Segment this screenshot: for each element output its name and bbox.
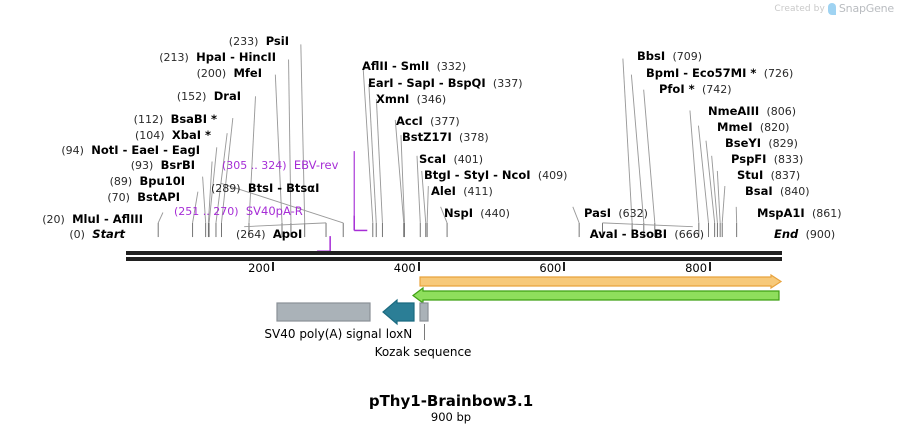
enzyme-name: SmlI [401, 59, 430, 73]
label-gap [287, 158, 294, 172]
enzyme-position: (94) [61, 144, 84, 157]
label-gap [773, 184, 780, 198]
enzyme-name: BsrBI [161, 158, 195, 172]
enzyme-name: MfeI [233, 66, 262, 80]
ruler-label-600: 600 [539, 261, 563, 275]
label-gap [65, 212, 72, 226]
ruler [0, 236, 902, 274]
label-gap [239, 204, 246, 218]
enzyme-position: (89) [110, 175, 133, 188]
enzyme-position: (742) [702, 83, 732, 96]
enzyme-label-pasi[interactable]: PasI (632) [584, 207, 648, 220]
primer-label-ebv-rev[interactable]: (305 .. 324) EBV-rev [222, 159, 338, 172]
enzyme-label-psii[interactable]: (233) PsiI [229, 35, 289, 48]
label-gap [766, 152, 773, 166]
enzyme-label-bseyi[interactable]: BseYI (829) [725, 137, 798, 150]
enzyme-position: (409) [538, 169, 568, 182]
label-gap [153, 158, 160, 172]
label-gap [805, 206, 812, 220]
label-gap [756, 66, 763, 80]
ruler-tick-400 [418, 262, 420, 271]
enzyme-label-xbai[interactable]: (104) XbaI * [135, 129, 211, 142]
enzyme-position: (726) [764, 67, 794, 80]
enzyme-label-xmni[interactable]: XmnI (346) [376, 93, 446, 106]
enzyme-separator: - [394, 76, 407, 90]
enzyme-name: AleI [431, 184, 456, 198]
feature-kozak-sequence[interactable] [420, 303, 428, 321]
enzyme-name: SapI [406, 76, 435, 90]
primer-label-sv40pa-r[interactable]: (251 .. 270) SV40pA-R [174, 205, 303, 218]
label-gap [241, 181, 248, 195]
enzyme-label-mlui[interactable]: (20) MluI - AflIII [42, 213, 143, 226]
enzyme-name: BspQI [448, 76, 486, 90]
feature-orange-feature[interactable] [420, 275, 781, 288]
enzyme-position: (233) [229, 35, 259, 48]
enzyme-label-drai[interactable]: (152) DraI [177, 90, 241, 103]
enzyme-label-mfei[interactable]: (200) MfeI [197, 67, 262, 80]
enzyme-label-eari[interactable]: EarI - SapI - BspQI (337) [368, 77, 523, 90]
enzyme-name: BseYI [725, 136, 761, 150]
enzyme-position: (401) [453, 153, 483, 166]
label-gap [763, 168, 770, 182]
enzyme-name: BsaBI * [171, 112, 217, 126]
label-gap [531, 168, 538, 182]
enzyme-separator: - [435, 76, 448, 90]
page-title: pThy1-Brainbow3.1 [0, 392, 902, 410]
enzyme-label-bbsi[interactable]: BbsI (709) [637, 50, 702, 63]
enzyme-name: AflII [362, 59, 388, 73]
enzyme-name: BstAPI [137, 190, 180, 204]
enzyme-name: NmeAIII [708, 104, 759, 118]
enzyme-name: BsaI [745, 184, 773, 198]
enzyme-name: PasI [584, 206, 611, 220]
enzyme-label-nspi[interactable]: NspI (440) [444, 207, 510, 220]
label-gap [753, 120, 760, 134]
feature-caption-sv40-polya-signal: SV40 poly(A) signal [264, 327, 381, 341]
ruler-tick-600 [563, 262, 565, 271]
enzyme-name: Eco57MI * [692, 66, 756, 80]
enzyme-name: EarI [368, 76, 394, 90]
enzyme-name: DraI [214, 89, 241, 103]
label-gap [130, 190, 137, 204]
snapgene-map-canvas: Created by SnapGene (233) PsiI(213) HpaI… [0, 0, 902, 433]
kozak-leader-line [424, 324, 425, 340]
enzyme-position: (104) [135, 129, 165, 142]
enzyme-name: BtsI [248, 181, 273, 195]
enzyme-label-stack: (233) PsiI(213) HpaI - HincII(200) MfeI(… [0, 0, 902, 245]
enzyme-position: (337) [493, 77, 523, 90]
enzyme-label-nmeaiii[interactable]: NmeAIII (806) [708, 105, 796, 118]
label-gap [429, 59, 436, 73]
enzyme-name: AflIII [113, 212, 143, 226]
enzyme-label-bpmi[interactable]: BpmI - Eco57MI * (726) [646, 67, 793, 80]
enzyme-position: (20) [42, 213, 65, 226]
enzyme-label-bpu10i[interactable]: (89) Bpu10I [110, 175, 185, 188]
enzyme-label-hpai[interactable]: (213) HpaI - HincII [159, 51, 276, 64]
enzyme-name: PfoI * [659, 82, 695, 96]
enzyme-separator: - [119, 143, 132, 157]
enzyme-name: StuI [737, 168, 763, 182]
page-subtitle: 900 bp [0, 410, 902, 424]
enzyme-position: (833) [774, 153, 804, 166]
label-gap [165, 128, 172, 142]
enzyme-position: (332) [437, 60, 467, 73]
enzyme-label-btgi[interactable]: BtgI - StyI - NcoI (409) [424, 169, 567, 182]
primer-range: (305 .. 324) [222, 159, 287, 172]
enzyme-position: (213) [159, 51, 189, 64]
ruler-label-400: 400 [394, 261, 418, 275]
enzyme-label-pspfi[interactable]: PspFI (833) [731, 153, 803, 166]
enzyme-position: (861) [812, 207, 842, 220]
enzyme-name: StyI [464, 168, 490, 182]
enzyme-position: (112) [134, 113, 164, 126]
enzyme-position: (377) [430, 115, 460, 128]
enzyme-separator: - [388, 59, 401, 73]
enzyme-label-pfoi[interactable]: PfoI * (742) [659, 83, 732, 96]
primer-name: EBV-rev [294, 158, 339, 172]
enzyme-position: (346) [417, 93, 447, 106]
label-gap [695, 82, 702, 96]
enzyme-name: BpmI [646, 66, 679, 80]
label-gap [163, 112, 170, 126]
enzyme-name: MmeI [717, 120, 753, 134]
enzyme-name: PsiI [266, 34, 289, 48]
enzyme-position: (411) [463, 185, 493, 198]
enzyme-position: (200) [197, 67, 227, 80]
enzyme-label-noti[interactable]: (94) NotI - EaeI - EagI [61, 144, 200, 157]
enzyme-label-bsabi[interactable]: (112) BsaBI * [134, 113, 217, 126]
enzyme-position: (820) [760, 121, 790, 134]
ruler-tick-800 [709, 262, 711, 271]
enzyme-label-stui[interactable]: StuI (837) [737, 169, 800, 182]
enzyme-name: XbaI * [172, 128, 211, 142]
ruler-label-800: 800 [685, 261, 709, 275]
enzyme-name: ScaI [419, 152, 446, 166]
enzyme-name: BbsI [637, 49, 665, 63]
enzyme-name: Bpu10I [140, 174, 185, 188]
feature-caption-loxn: loxN [386, 327, 412, 341]
enzyme-name: EaeI [131, 143, 159, 157]
label-gap [258, 34, 265, 48]
enzyme-separator: - [226, 50, 239, 64]
enzyme-name: MspA1I [757, 206, 805, 220]
enzyme-position: (152) [177, 90, 207, 103]
enzyme-position: (829) [768, 137, 798, 150]
enzyme-name: NspI [444, 206, 473, 220]
label-gap [486, 76, 493, 90]
enzyme-name: MluI [72, 212, 100, 226]
enzyme-name: NcoI [502, 168, 531, 182]
enzyme-separator: - [100, 212, 113, 226]
enzyme-separator: - [159, 143, 172, 157]
ruler-label-200: 200 [248, 261, 272, 275]
feature-sv40-polya-signal[interactable] [277, 303, 370, 321]
enzyme-name: BstZ17I [402, 130, 452, 144]
enzyme-label-btsi[interactable]: (289) BtsI - BtsαI [211, 182, 319, 195]
enzyme-name: XmnI [376, 92, 409, 106]
enzyme-label-bsrbi[interactable]: (93) BsrBI [131, 159, 195, 172]
enzyme-label-mspa1i[interactable]: MspA1I (861) [757, 207, 842, 220]
enzyme-label-scai[interactable]: ScaI (401) [419, 153, 483, 166]
enzyme-position: (806) [766, 105, 796, 118]
enzyme-position: (837) [771, 169, 801, 182]
label-gap [409, 92, 416, 106]
enzyme-name: NotI [91, 143, 118, 157]
enzyme-position: (70) [107, 191, 130, 204]
enzyme-name: PspFI [731, 152, 766, 166]
label-gap [452, 130, 459, 144]
enzyme-label-acci[interactable]: AccI (377) [396, 115, 460, 128]
enzyme-position: (709) [672, 50, 702, 63]
ruler-tick-200 [272, 262, 274, 271]
enzyme-position: (632) [618, 207, 648, 220]
enzyme-name: AccI [396, 114, 423, 128]
primer-name: SV40pA-R [246, 204, 303, 218]
enzyme-name: BtsαI [286, 181, 319, 195]
enzyme-separator: - [679, 66, 692, 80]
enzyme-name: BtgI [424, 168, 451, 182]
feature-caption-kozak-sequence: Kozak sequence [375, 345, 472, 359]
enzyme-separator: - [451, 168, 464, 182]
enzyme-position: (840) [780, 185, 810, 198]
enzyme-position: (378) [459, 131, 489, 144]
enzyme-separator: - [273, 181, 286, 195]
feature-loxn[interactable] [383, 300, 414, 324]
enzyme-position: (440) [480, 207, 510, 220]
feature-green-feature[interactable] [413, 288, 779, 303]
primer-range: (251 .. 270) [174, 205, 239, 218]
enzyme-label-bstapi[interactable]: (70) BstAPI [107, 191, 180, 204]
label-gap [84, 143, 91, 157]
enzyme-label-bsai[interactable]: BsaI (840) [745, 185, 810, 198]
enzyme-name: HincII [239, 50, 276, 64]
enzyme-label-bstz17i[interactable]: BstZ17I (378) [402, 131, 489, 144]
label-gap [206, 89, 213, 103]
enzyme-label-mmei[interactable]: MmeI (820) [717, 121, 789, 134]
label-gap [189, 50, 196, 64]
enzyme-name: EagI [172, 143, 200, 157]
label-gap [226, 66, 233, 80]
enzyme-label-aflii[interactable]: AflII - SmlI (332) [362, 60, 466, 73]
enzyme-label-alei[interactable]: AleI (411) [431, 185, 493, 198]
label-gap [132, 174, 139, 188]
enzyme-position: (93) [131, 159, 154, 172]
enzyme-name: HpaI [196, 50, 226, 64]
enzyme-separator: - [489, 168, 502, 182]
enzyme-position: (289) [211, 182, 241, 195]
